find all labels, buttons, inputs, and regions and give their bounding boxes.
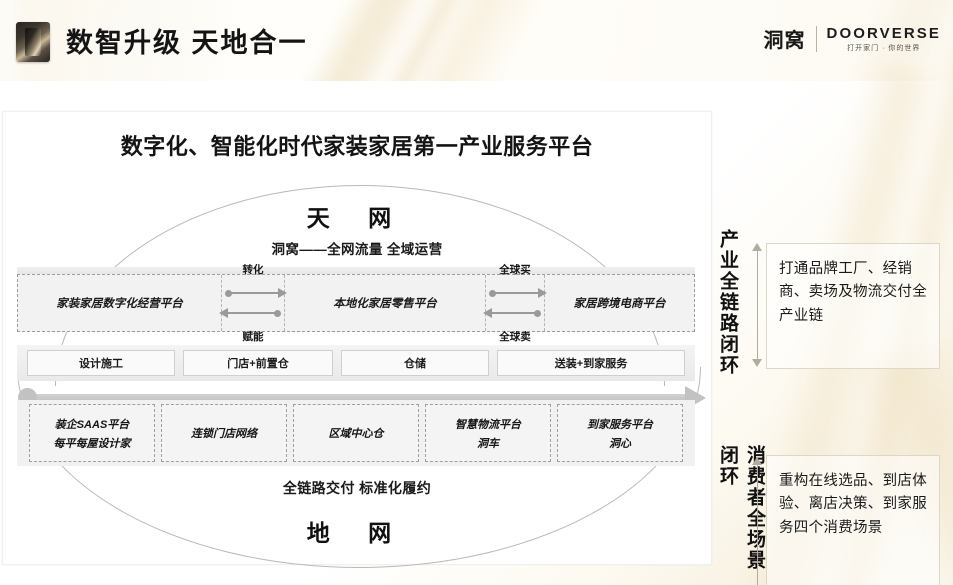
platform-row: 家装家居数字化经营平台 转化 赋能 本地化家居零售平台 [17,274,695,332]
slide-root: 数智升级 天地合一 洞窝 DOORVERSE 打开家门 · 你的世界 数字化、智… [0,0,953,585]
product-cell-line1: 连锁门店网络 [191,425,257,441]
product-cell-line1: 到家服务平台 [587,416,653,432]
product-cell-line2: 每平每屋设计家 [54,435,131,451]
arrow-left-empower [228,312,278,314]
brand-tagline: 打开家门 · 你的世界 [847,43,920,53]
product-cell-home-service: 到家服务平台 洞心 [557,404,683,462]
arrow-label-global-buy: 全球买 [486,262,544,277]
product-row: 装企SAAS平台 每平每屋设计家 连锁门店网络 区域中心仓 智慧物流平台 洞车 … [29,404,683,462]
arrow-group-convert-empower: 转化 赋能 [222,275,285,331]
arrow-left-global-sell [492,312,538,314]
product-cell-store-network: 连锁门店网络 [161,404,287,462]
brace-bottom-icon [752,455,764,585]
ground-net-label: 地 网 [3,514,711,548]
note-consumer-scenarios: 重构在线选品、到店体验、离店决策、到家服务四个消费场景 [766,455,940,585]
chain-cell-storage: 仓储 [341,350,489,376]
chain-cell-design-build: 设计施工 [27,350,175,376]
diagram-card: 数字化、智能化时代家装家居第一产业服务平台 天 网 洞窝——全网流量 全域运营 … [2,111,712,565]
page-title: 数智升级 天地合一 [66,21,308,60]
sky-net-subtitle: 洞窝——全网流量 全域运营 [3,238,711,258]
diagram-title: 数字化、智能化时代家装家居第一产业服务平台 [3,129,711,161]
product-cell-line2: 洞心 [609,435,631,451]
product-cell-line1: 区域中心仓 [329,425,384,441]
brand-name-en: DOORVERSE [827,25,941,42]
brand-name-cn: 洞窝 [764,24,806,53]
slide-body: 数字化、智能化时代家装家居第一产业服务平台 天 网 洞窝——全网流量 全域运营 … [0,81,953,585]
arrow-right-global-buy [492,292,538,294]
arrow-label-empower: 赋能 [222,329,284,344]
product-cell-line1: 智慧物流平台 [455,416,521,432]
brand-en-group: DOORVERSE 打开家门 · 你的世界 [827,25,941,53]
arrow-label-convert: 转化 [222,262,284,277]
note-industry-chain: 打通品牌工厂、经销商、卖场及物流交付全产业链 [766,243,940,369]
ground-net-subtitle: 全链路交付 标准化履约 [3,478,711,498]
platform-cell-digital-operation: 家装家居数字化经营平台 [18,275,222,331]
arrow-label-global-sell: 全球卖 [486,329,544,344]
platform-cell-local-retail: 本地化家居零售平台 [285,275,485,331]
product-cell-logistics: 智慧物流平台 洞车 [425,404,551,462]
product-cell-line1: 装企SAAS平台 [55,416,130,432]
arrow-right-convert [228,292,278,294]
brand-lockup: 洞窝 DOORVERSE 打开家门 · 你的世界 [764,24,941,53]
door-logo-icon [16,22,50,62]
chain-row: 设计施工 门店+前置仓 仓储 送装+到家服务 [27,350,685,376]
sky-net-label: 天 网 [3,199,711,233]
arrow-group-global-buy-sell: 全球买 全球卖 [485,275,545,331]
vertical-label-industry-loop: 产业全链路闭环 [714,229,741,376]
header-light-streak-1 [294,0,427,81]
slide-header: 数智升级 天地合一 洞窝 DOORVERSE 打开家门 · 你的世界 [0,0,953,81]
header-light-streak-2 [368,0,483,81]
brace-top-icon [752,241,764,369]
chain-cell-store-forward-warehouse: 门店+前置仓 [183,350,333,376]
product-cell-line2: 洞车 [477,435,499,451]
brand-divider [816,26,817,52]
platform-cell-cross-border: 家居跨境电商平台 [545,275,694,331]
product-cell-regional-warehouse: 区域中心仓 [293,404,419,462]
chain-cell-delivery-home-service: 送装+到家服务 [497,350,685,376]
product-cell-saas: 装企SAAS平台 每平每屋设计家 [29,404,155,462]
